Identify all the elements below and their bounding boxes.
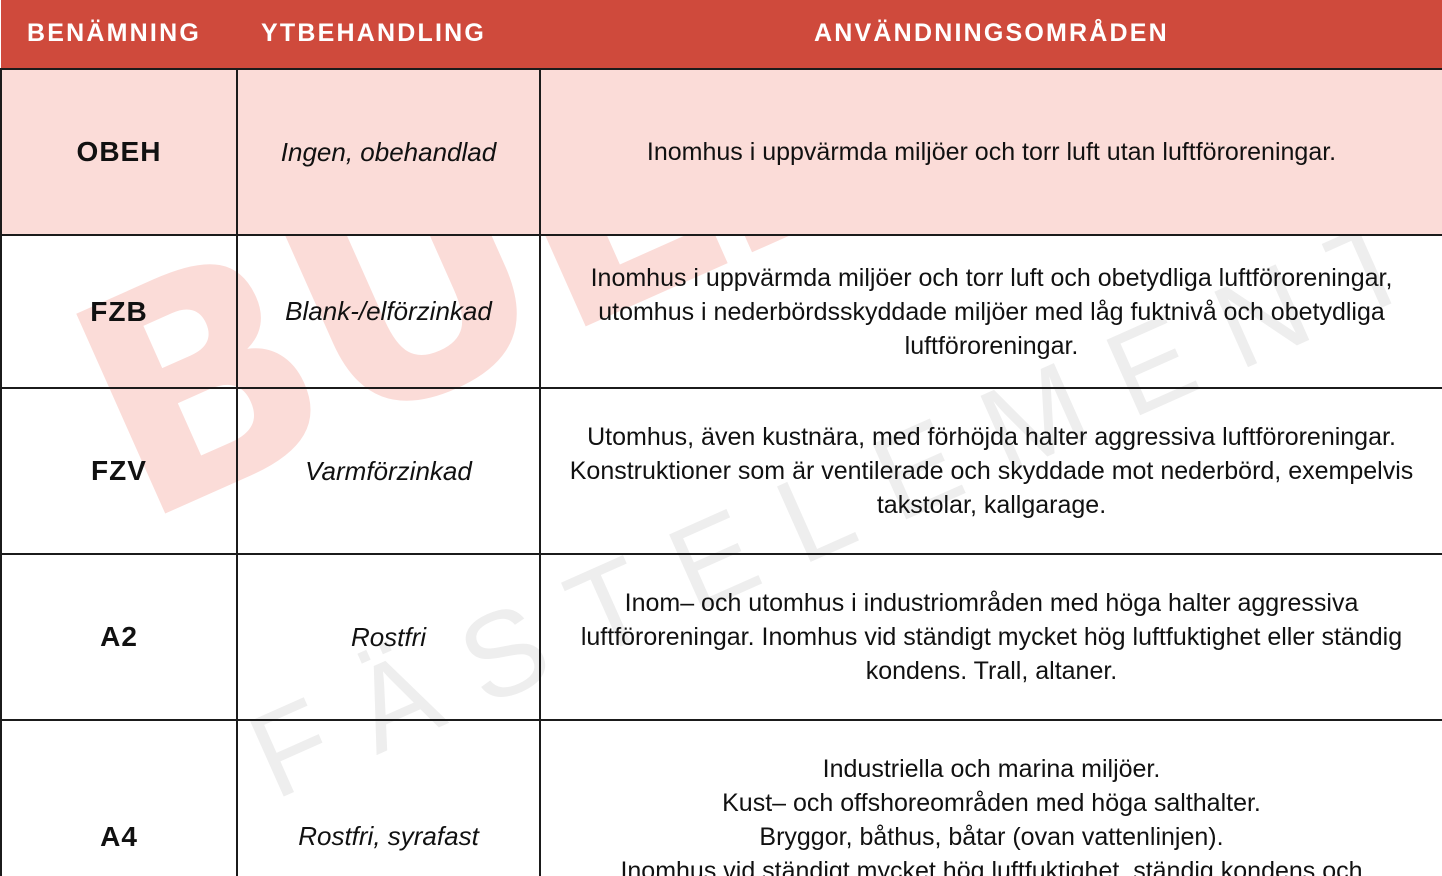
table-row: OBEH Ingen, obehandlad Inomhus i uppvärm… xyxy=(1,69,1442,235)
cell-surface: Varmförzinkad xyxy=(237,388,540,554)
cell-surface: Rostfri, syrafast xyxy=(237,720,540,876)
cell-usage: Inomhus i uppvärmda miljöer och torr luf… xyxy=(540,69,1442,235)
table-row: A4 Rostfri, syrafast Industriella och ma… xyxy=(1,720,1442,876)
cell-usage: Industriella och marina miljöer. Kust– o… xyxy=(540,720,1442,876)
cell-code: A4 xyxy=(1,720,237,876)
usage-line: Bryggor, båthus, båtar (ovan vattenlinje… xyxy=(559,820,1424,854)
table-row: FZV Varmförzinkad Utomhus, även kustnära… xyxy=(1,388,1442,554)
cell-code: FZV xyxy=(1,388,237,554)
cell-surface: Ingen, obehandlad xyxy=(237,69,540,235)
surface-treatment-table: BENÄMNING YTBEHANDLING ANVÄNDNINGSOMRÅDE… xyxy=(0,0,1442,876)
usage-line: Kust– och offshoreområden med höga salth… xyxy=(559,786,1424,820)
cell-usage: Inomhus i uppvärmda miljöer och torr luf… xyxy=(540,235,1442,388)
cell-code: FZB xyxy=(1,235,237,388)
cell-surface: Blank-/elförzinkad xyxy=(237,235,540,388)
cell-usage: Utomhus, även kustnära, med förhöjda hal… xyxy=(540,388,1442,554)
table-container: BENÄMNING YTBEHANDLING ANVÄNDNINGSOMRÅDE… xyxy=(0,0,1442,876)
column-header-ytbehandling: YTBEHANDLING xyxy=(237,0,540,69)
table-body: OBEH Ingen, obehandlad Inomhus i uppvärm… xyxy=(1,69,1442,876)
cell-code: A2 xyxy=(1,554,237,720)
spec-table-page: BULTAB FÄSTELEMENT BENÄMNING YTBEHANDLIN… xyxy=(0,0,1442,876)
table-row: A2 Rostfri Inom– och utomhus i industrio… xyxy=(1,554,1442,720)
usage-line: Inomhus vid ständigt mycket hög luftfukt… xyxy=(559,854,1424,876)
cell-code: OBEH xyxy=(1,69,237,235)
header-row: BENÄMNING YTBEHANDLING ANVÄNDNINGSOMRÅDE… xyxy=(1,0,1442,69)
usage-line: Industriella och marina miljöer. xyxy=(559,752,1424,786)
table-header: BENÄMNING YTBEHANDLING ANVÄNDNINGSOMRÅDE… xyxy=(1,0,1442,69)
cell-usage: Inom– och utomhus i industriområden med … xyxy=(540,554,1442,720)
column-header-anvandningsomraden: ANVÄNDNINGSOMRÅDEN xyxy=(540,0,1442,69)
column-header-benamning: BENÄMNING xyxy=(1,0,237,69)
cell-surface: Rostfri xyxy=(237,554,540,720)
table-row: FZB Blank-/elförzinkad Inomhus i uppvärm… xyxy=(1,235,1442,388)
